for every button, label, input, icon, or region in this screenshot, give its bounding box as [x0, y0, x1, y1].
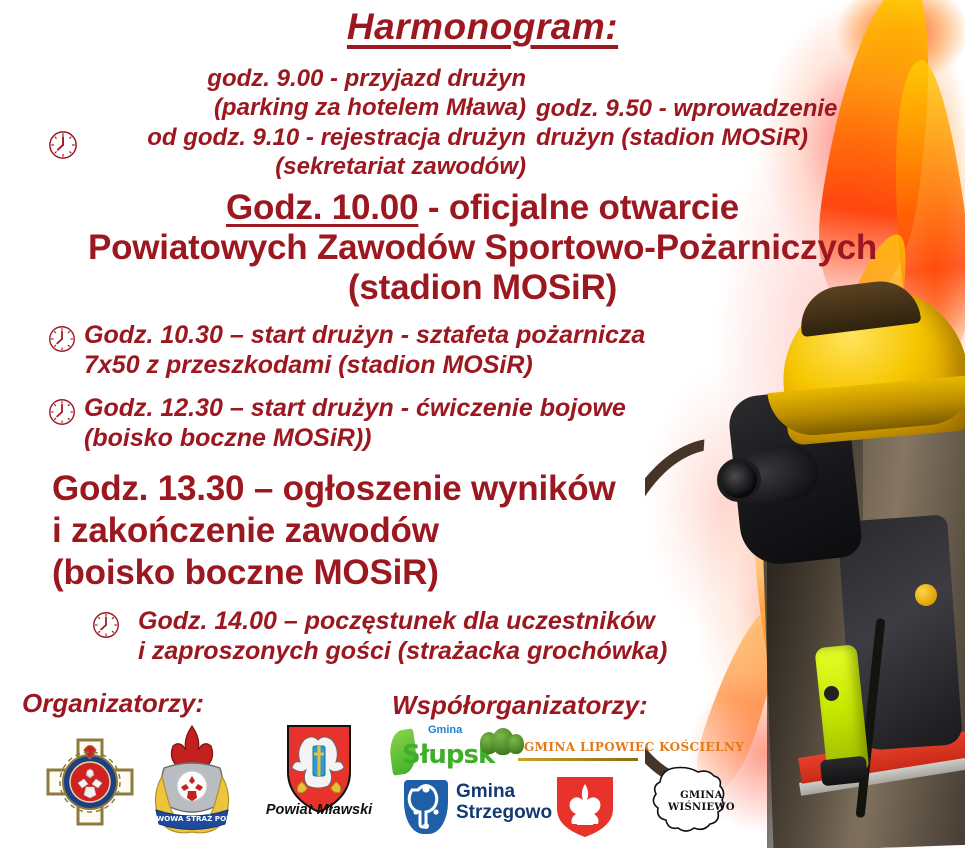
- gmina-wisniewo-crest: [556, 776, 616, 838]
- gmina-slupsk-logo: Gmina Słupsk: [372, 724, 484, 780]
- schedule-early-left: godz. 9.00 - przyjazd drużyn (parking za…: [46, 64, 526, 181]
- opening-line-1: Godz. 10.00 - oficjalne otwarcie: [0, 188, 965, 228]
- schedule-line: (parking za hotelem Mława): [46, 93, 526, 122]
- schedule-line: Godz. 10.30 – start drużyn - sztafeta po…: [84, 320, 965, 351]
- gmina-lipowiec-koscielny-logo: GMINA LIPOWIEC KOŚCIELNY: [478, 728, 642, 774]
- opening-rest: - oficjalne otwarcie: [418, 188, 739, 227]
- schedule-line: drużyn (stadion MOSiR): [536, 123, 896, 152]
- schedule-line: (sekretariat zawodów): [46, 152, 526, 181]
- gmina-strzegowo-line-1: Gmina: [456, 782, 552, 803]
- tree-icon: [508, 734, 524, 754]
- coorganizers-heading: Współorganizatorzy:: [392, 690, 648, 721]
- results-line-1: Godz. 13.30 – ogłoszenie wyników: [52, 468, 965, 510]
- schedule-line: i zaproszonych gości (strażacka grochówk…: [138, 636, 965, 667]
- gmina-strzegowo-text: Gmina Strzegowo: [456, 782, 552, 824]
- divider: [518, 758, 638, 761]
- organizers-heading: Organizatorzy:: [22, 688, 204, 719]
- schedule-line: godz. 9.50 - wprowadzenie: [536, 94, 896, 123]
- opening-line-3: (stadion MOSiR): [0, 268, 965, 308]
- gmina-strzegowo-line-2: Strzegowo: [456, 803, 552, 824]
- results-block: Godz. 13.30 – ogłoszenie wyników i zakoń…: [52, 468, 965, 594]
- gmina-wisniewo-map-label: GMINA WIŚNIEWO: [668, 790, 735, 813]
- official-opening-block: Godz. 10.00 - oficjalne otwarcie Powiato…: [0, 188, 965, 308]
- schedule-item-1030: Godz. 10.30 – start drużyn - sztafeta po…: [0, 320, 965, 381]
- schedule-early-right: godz. 9.50 - wprowadzenie drużyn (stadio…: [536, 94, 896, 153]
- poster-canvas: Harmonogram:: [0, 0, 965, 848]
- gmina-slupsk-top-word: Gmina: [428, 724, 462, 736]
- schedule-line: (boisko boczne MOSiR)): [84, 423, 965, 454]
- powiat-mlawski-crest: Powiat Mławski: [258, 724, 380, 840]
- results-line-3: (boisko boczne MOSiR): [52, 552, 965, 594]
- clock-icon: [92, 610, 122, 641]
- opening-time: Godz. 10.00: [226, 188, 418, 227]
- gmina-strzegowo-logo: Gmina Strzegowo: [404, 778, 564, 836]
- page-title: Harmonogram:: [0, 4, 965, 48]
- schedule-line: Godz. 12.30 – start drużyn - ćwiczenie b…: [84, 393, 965, 424]
- results-line-2: i zakończenie zawodów: [52, 510, 965, 552]
- gmina-lipowiec-koscielny-word: GMINA LIPOWIEC KOŚCIELNY: [524, 740, 744, 754]
- powiat-mlawski-caption: Powiat Mławski: [266, 802, 373, 816]
- schedule-item-1400: Godz. 14.00 – poczęstunek dla uczestnikó…: [0, 606, 965, 667]
- schedule-line: godz. 9.00 - przyjazd drużyn: [46, 64, 526, 93]
- schedule-line: 7x50 z przeszkodami (stadion MOSiR): [84, 350, 965, 381]
- clock-icon: [48, 324, 78, 355]
- wisniewo-map-line-2: WIŚNIEWO: [668, 802, 735, 814]
- early-schedule-row: godz. 9.00 - przyjazd drużyn (parking za…: [0, 62, 965, 182]
- footer-logos: Organizatorzy: Współorganizatorzy:: [0, 688, 965, 848]
- strzegowo-shield-icon: [404, 780, 448, 834]
- schedule-line: Godz. 14.00 – poczęstunek dla uczestnikó…: [138, 606, 965, 637]
- zosp-rp-badge-icon: [34, 728, 146, 836]
- opening-line-2: Powiatowych Zawodów Sportowo-Pożarniczyc…: [0, 228, 965, 268]
- panstwowa-straz-pozarna-badge-icon: PAŃSTWOWA STRAŻ POŻARNA: [140, 724, 244, 836]
- schedule-line: od godz. 9.10 - rejestracja drużyn: [46, 123, 526, 152]
- gmina-wisniewo-map: GMINA WIŚNIEWO: [640, 766, 748, 844]
- clock-icon: [48, 397, 78, 428]
- wisniewo-map-line-1: GMINA: [668, 790, 735, 802]
- schedule-item-1230: Godz. 12.30 – start drużyn - ćwiczenie b…: [0, 393, 965, 454]
- svg-text:PAŃSTWOWA STRAŻ POŻARNA: PAŃSTWOWA STRAŻ POŻARNA: [140, 814, 244, 823]
